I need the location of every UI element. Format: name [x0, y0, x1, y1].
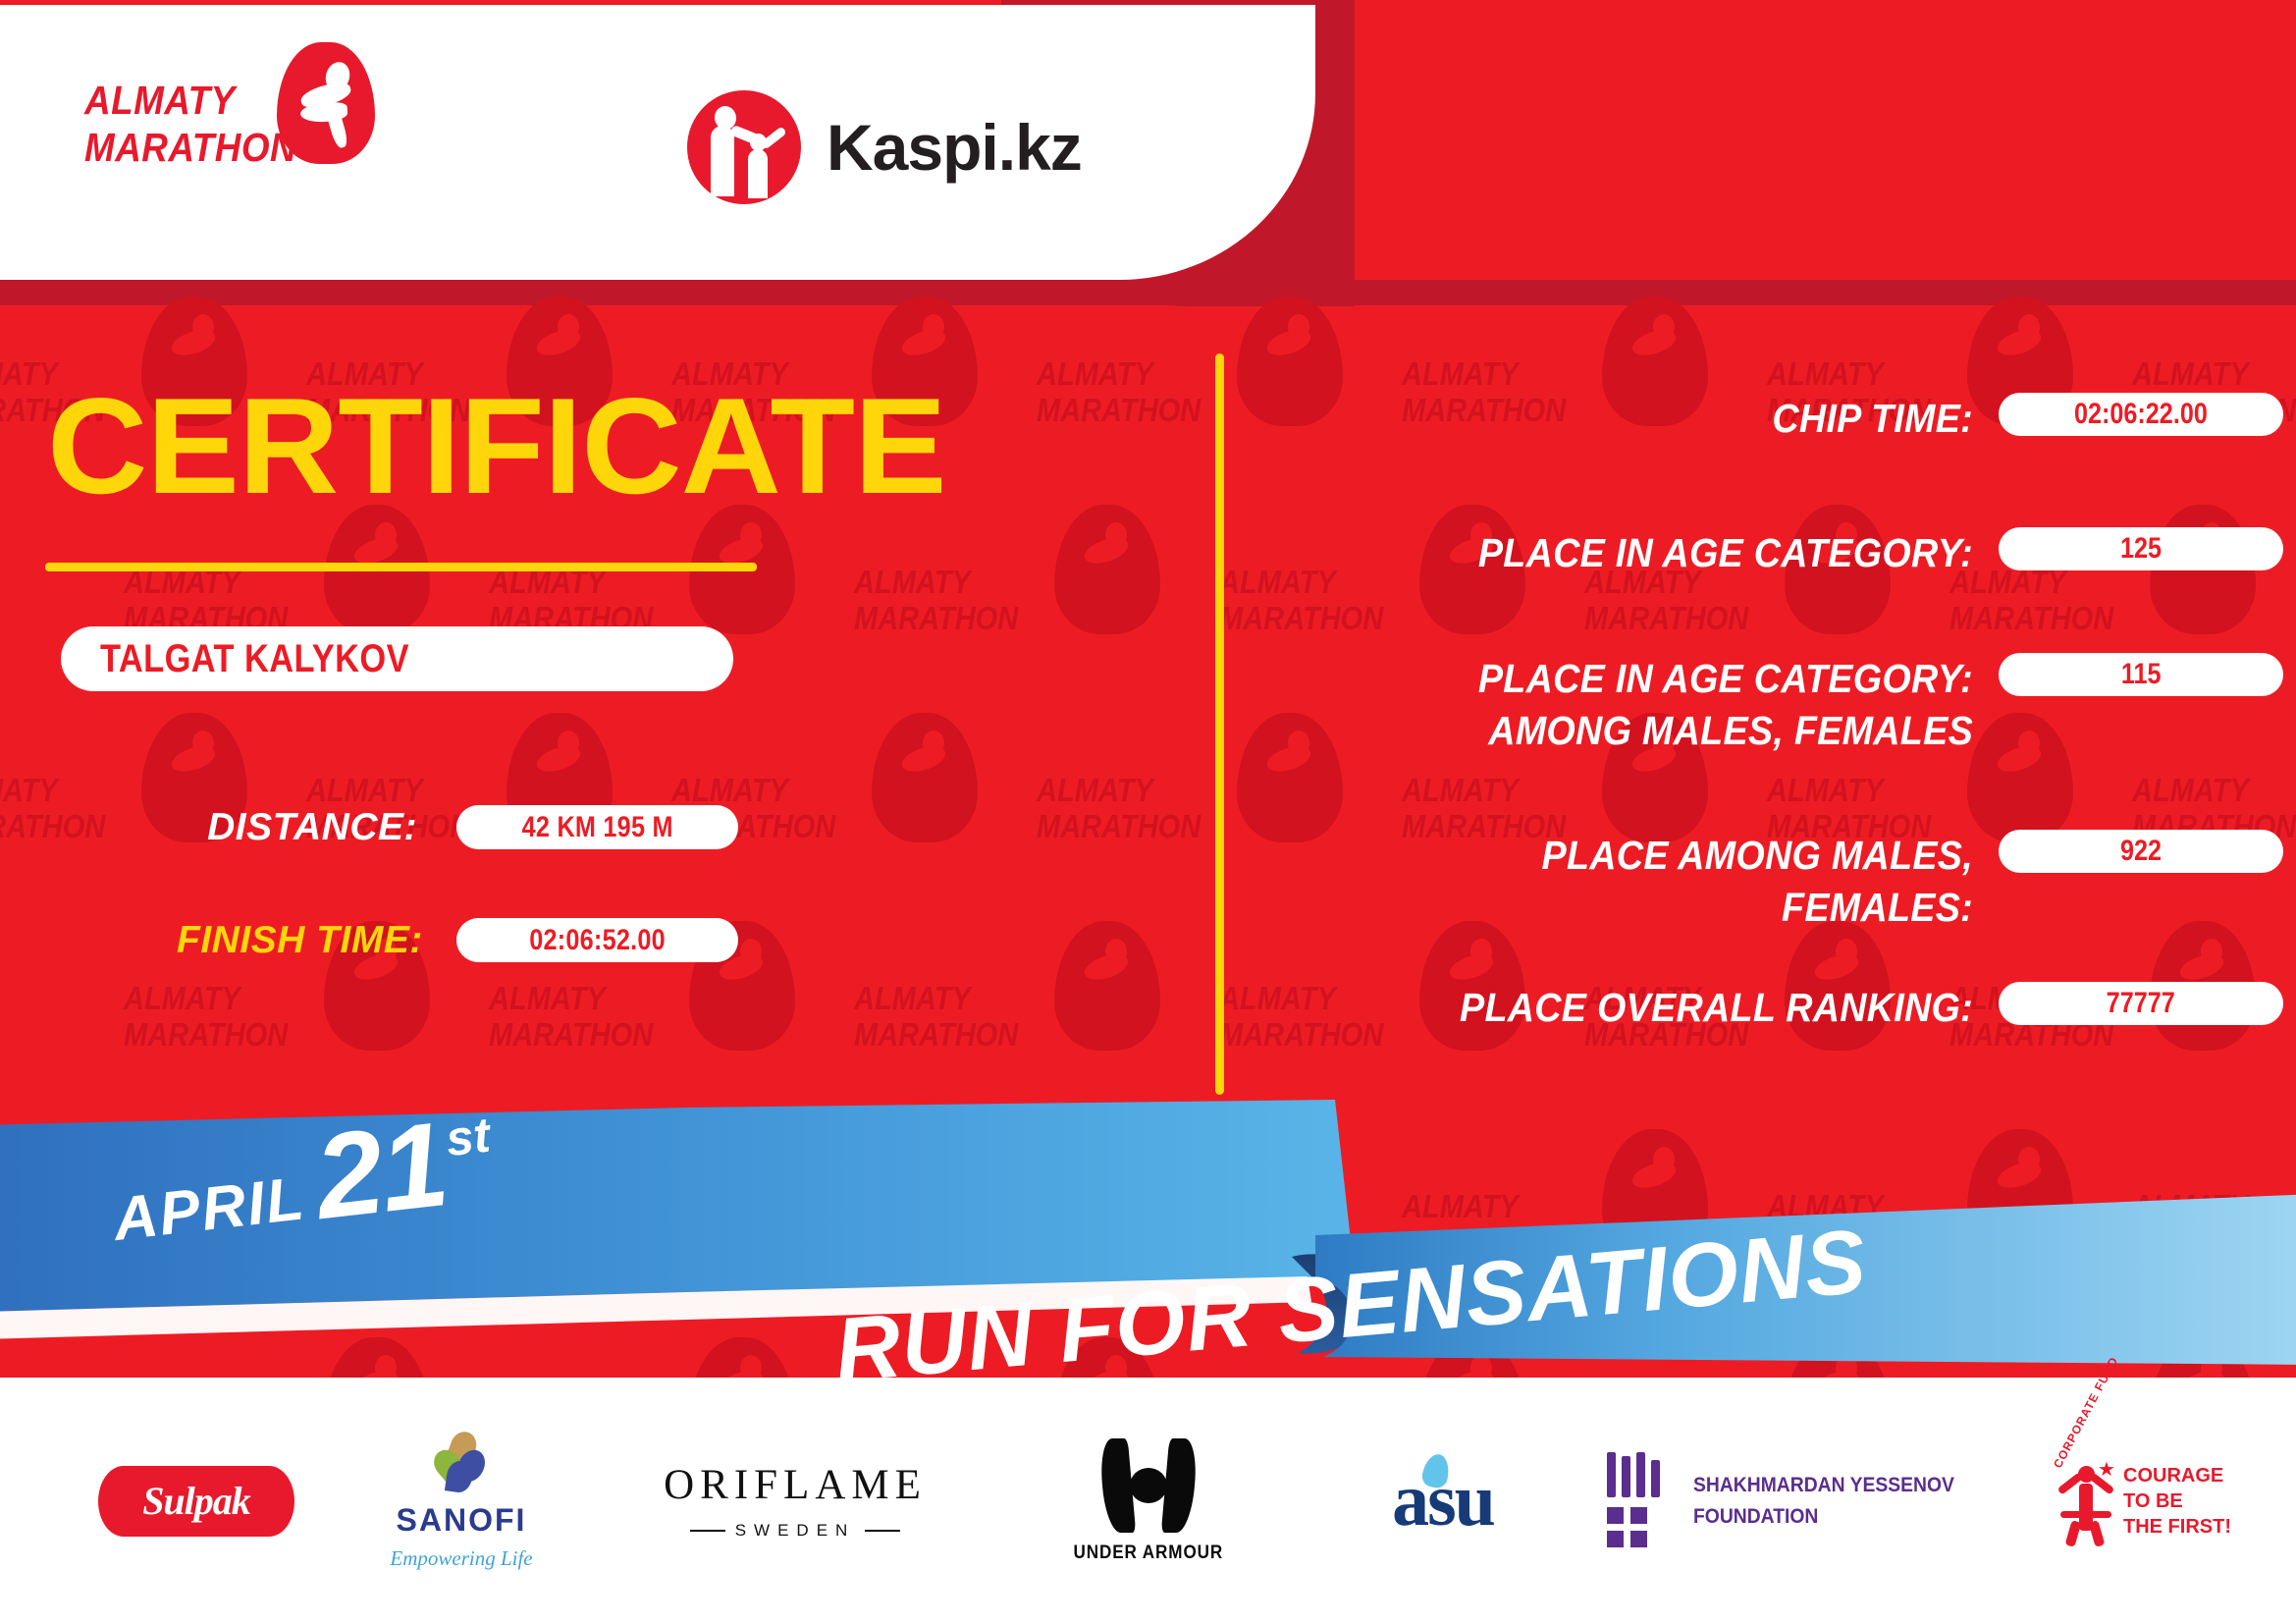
place-among-gender-label: PLACE AMONG MALES, FEMALES: [962, 830, 1973, 934]
distance-value-pill: 42 KM 195 M [456, 805, 738, 849]
place-among-gender-row: PLACE AMONG MALES, FEMALES: 922 [874, 830, 2296, 934]
star-icon: ★ [2098, 1460, 2115, 1480]
finish-time-row: FINISH TIME: 02:06:52.00 [177, 918, 923, 962]
sponsor-oriflame: ORIFLAME SWEDEN [628, 1378, 962, 1624]
place-among-gender-value-pill: 922 [1999, 830, 2283, 873]
participant-name-field: TALGAT KALYKOV [61, 626, 733, 691]
finish-time-value: 02:06:52.00 [529, 926, 666, 955]
oriflame-sub: SWEDEN [735, 1521, 856, 1541]
finish-time-value-pill: 02:06:52.00 [456, 918, 738, 962]
asu-logo-icon: asu [1392, 1458, 1494, 1543]
place-overall-ranking-value-pill: 77777 [1999, 982, 2283, 1025]
chip-time-label: CHIP TIME: [962, 393, 1973, 445]
participant-name-value: TALGAT KALYKOV [100, 639, 409, 678]
sanofi-tagline: Empowering Life [390, 1546, 532, 1571]
yessenov-mark-icon [1607, 1452, 1672, 1550]
certificate-canvas: ALMATY MARATHONALMATY MARATHONALMATY MAR… [0, 0, 2296, 1624]
sanofi-label: SANOFI [397, 1502, 527, 1539]
place-age-category-gender-label: PLACE IN AGE CATEGORY: AMONG MALES, FEMA… [962, 653, 1973, 757]
sponsor-courage-fund: CORPORATE FUND ★ COURAGE TO BE THE FIRST… [2022, 1378, 2268, 1624]
place-age-category-row: PLACE IN AGE CATEGORY: 125 [874, 527, 2296, 579]
sponsor-asu: asu [1315, 1378, 1571, 1624]
place-age-category-gender-value: 115 [2121, 660, 2162, 689]
chip-time-value: 02:06:22.00 [2074, 400, 2208, 429]
place-overall-ranking-value: 77777 [2107, 989, 2175, 1018]
oriflame-label: ORIFLAME [664, 1461, 927, 1509]
sulpak-logo-icon: Sulpak [98, 1466, 294, 1537]
place-overall-ranking-label: PLACE OVERALL RANKING: [962, 982, 1973, 1034]
sponsor-under-armour: UNDER ARMOUR [1001, 1378, 1296, 1624]
place-overall-ranking-row: PLACE OVERALL RANKING: 77777 [874, 982, 2296, 1034]
sponsor-sulpak: Sulpak [59, 1378, 334, 1624]
distance-row: DISTANCE: 42 KM 195 M [177, 805, 923, 849]
title-underline [45, 563, 757, 571]
chip-time-value-pill: 02:06:22.00 [1999, 393, 2283, 436]
under-armour-icon [1095, 1438, 1202, 1533]
place-among-gender-value: 922 [2120, 837, 2162, 866]
courage-line3: THE FIRST! [2123, 1514, 2231, 1540]
results-column: CHIP TIME: 02:06:22.00 PLACE IN AGE CATE… [1276, 0, 2296, 1378]
event-day-suffix: st [444, 1110, 493, 1164]
page-title: CERTIFICATE [47, 378, 946, 514]
courage-line2: TO BE [2123, 1489, 2231, 1514]
chip-time-row: CHIP TIME: 02:06:22.00 [874, 393, 2296, 445]
place-age-category-value: 125 [2120, 534, 2162, 564]
under-armour-label: UNDER ARMOUR [1074, 1543, 1224, 1564]
sponsor-bar: Sulpak SANOFI Empowering Life ORIFLAME S… [0, 1378, 2296, 1624]
courage-figure-icon: ★ [2058, 1456, 2113, 1546]
place-age-category-gender-value-pill: 115 [1999, 653, 2283, 696]
sanofi-petals-icon [429, 1432, 494, 1496]
place-age-category-value-pill: 125 [1999, 527, 2283, 570]
place-age-category-label: PLACE IN AGE CATEGORY: [962, 527, 1973, 579]
place-age-category-gender-row: PLACE IN AGE CATEGORY: AMONG MALES, FEMA… [874, 653, 2296, 757]
finish-time-label: FINISH TIME: [177, 921, 417, 959]
sponsor-yessenov-foundation: SHAKHMARDAN YESSENOV FOUNDATION [1580, 1378, 2002, 1624]
courage-line1: COURAGE [2123, 1463, 2231, 1489]
distance-label: DISTANCE: [177, 808, 417, 846]
yessenov-line2: FOUNDATION [1693, 1501, 1954, 1533]
yessenov-line1: SHAKHMARDAN YESSENOV [1693, 1470, 1954, 1501]
sponsor-sanofi: SANOFI Empowering Life [334, 1378, 589, 1624]
event-day: 21 [310, 1110, 451, 1231]
sulpak-label: Sulpak [142, 1478, 250, 1524]
distance-value: 42 KM 195 M [521, 813, 672, 842]
